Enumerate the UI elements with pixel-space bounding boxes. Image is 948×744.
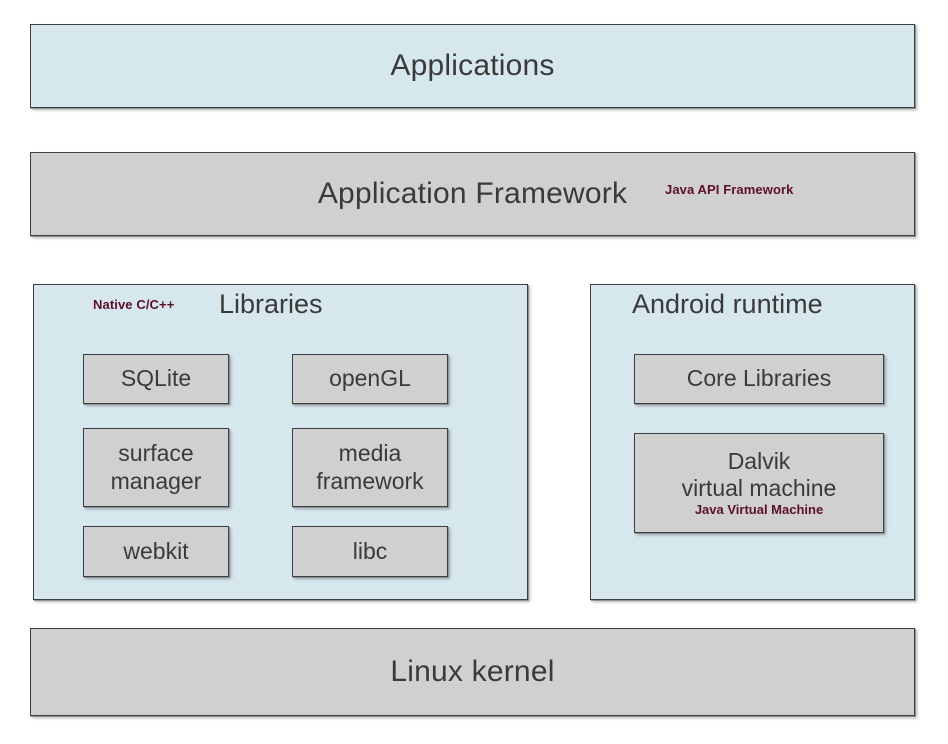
module-sqlite[interactable]: SQLite [83, 354, 229, 404]
android-runtime-label: Android runtime [632, 289, 823, 320]
layer-libraries[interactable]: Native C/C++ Libraries SQLite surface ma… [33, 284, 528, 600]
libraries-label: Libraries [219, 289, 323, 320]
module-media-framework[interactable]: media framework [292, 428, 448, 507]
java-virtual-machine-annotation: Java Virtual Machine [695, 503, 823, 518]
layer-android-runtime[interactable]: Android runtime Core Libraries Dalvik vi… [590, 284, 915, 600]
module-webkit-label: webkit [123, 538, 188, 565]
module-webkit[interactable]: webkit [83, 526, 229, 577]
module-core-libraries[interactable]: Core Libraries [634, 354, 884, 404]
module-opengl[interactable]: openGL [292, 354, 448, 404]
linux-kernel-label: Linux kernel [390, 655, 554, 689]
java-api-framework-annotation: Java API Framework [665, 182, 794, 197]
module-surface-manager-line1: surface [118, 440, 193, 467]
native-c-cpp-annotation: Native C/C++ [93, 297, 174, 312]
module-dalvik-line1: Dalvik [728, 448, 791, 475]
module-libc[interactable]: libc [292, 526, 448, 577]
module-core-libraries-label: Core Libraries [687, 365, 831, 392]
module-media-framework-line2: framework [316, 468, 423, 495]
module-opengl-label: openGL [329, 365, 411, 392]
module-sqlite-label: SQLite [121, 365, 191, 392]
application-framework-label: Application Framework [318, 177, 627, 211]
layer-application-framework[interactable]: Application Framework Java API Framework [30, 152, 915, 236]
module-libc-label: libc [353, 538, 388, 565]
android-architecture-diagram: Applications Application Framework Java … [0, 0, 948, 744]
module-surface-manager-line2: manager [111, 468, 202, 495]
module-surface-manager[interactable]: surface manager [83, 428, 229, 507]
module-dalvik-virtual-machine[interactable]: Dalvik virtual machine Java Virtual Mach… [634, 433, 884, 533]
module-dalvik-line2: virtual machine [682, 475, 837, 502]
layer-linux-kernel[interactable]: Linux kernel [30, 628, 915, 716]
applications-label: Applications [390, 49, 554, 83]
layer-applications[interactable]: Applications [30, 24, 915, 108]
module-media-framework-line1: media [339, 440, 402, 467]
